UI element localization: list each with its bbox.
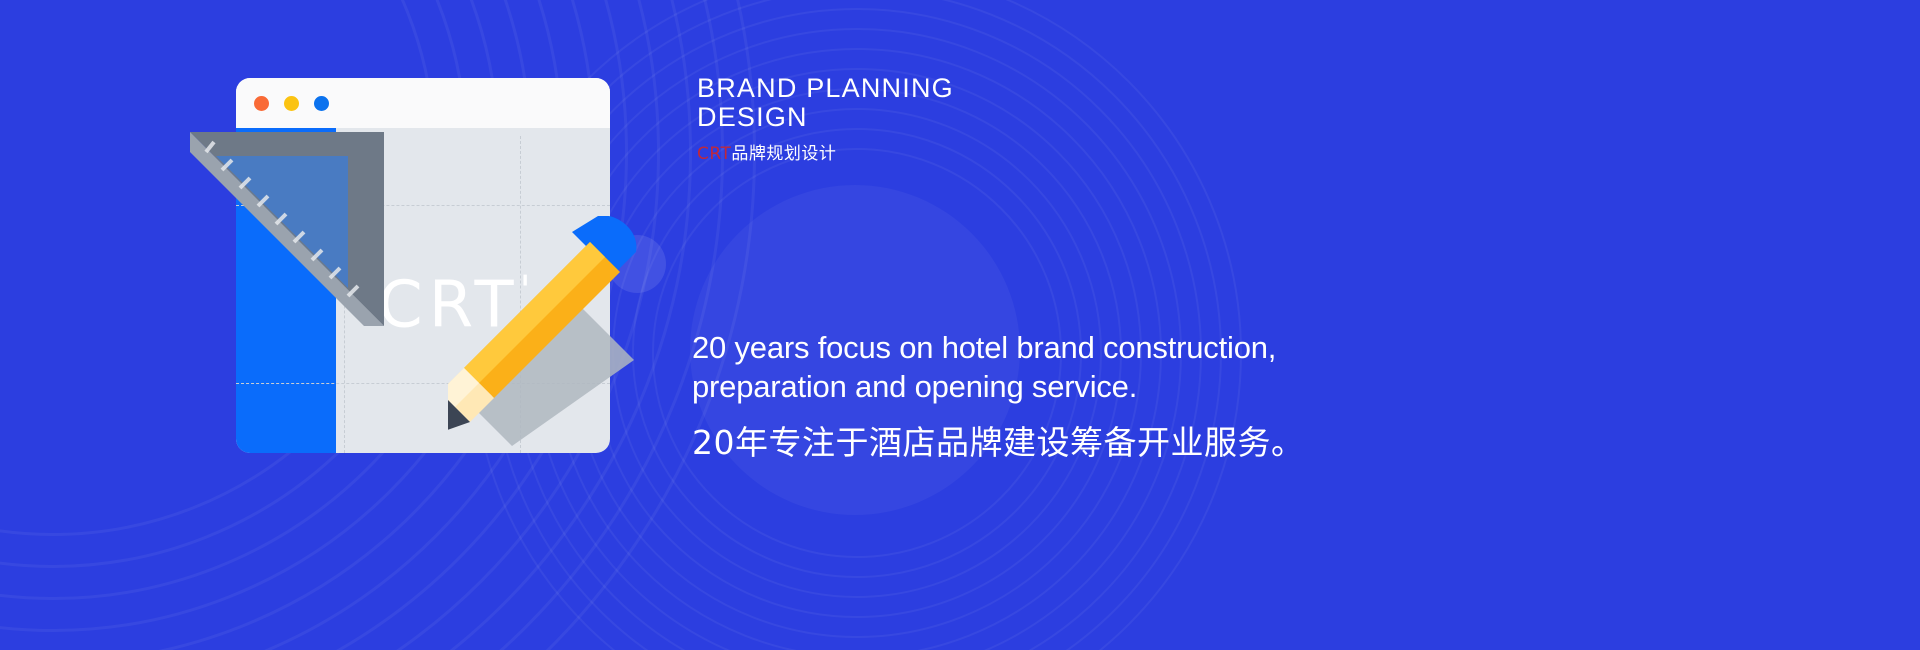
headline-chinese-accent: CRT — [697, 144, 731, 164]
brand-illustration: CRT' — [230, 78, 610, 453]
tagline-en-line-2: preparation and opening service. — [692, 367, 1452, 406]
tagline-en-line-1: 20 years focus on hotel brand constructi… — [692, 328, 1452, 367]
brand-banner: CRT' — [0, 0, 1920, 650]
headline-block: BRAND PLANNING DESIGN CRT品牌规划设计 — [697, 74, 1397, 164]
maximize-dot-icon[interactable] — [314, 96, 329, 111]
tagline-cn: 20年专注于酒店品牌建设筹备开业服务。 — [692, 422, 1452, 464]
headline-line-2: DESIGN — [697, 103, 1397, 132]
tagline-block: 20 years focus on hotel brand constructi… — [692, 328, 1452, 464]
minimize-dot-icon[interactable] — [284, 96, 299, 111]
window-titlebar — [236, 78, 610, 128]
headline-line-1: BRAND PLANNING — [697, 74, 1397, 103]
triangle-ruler-icon — [188, 130, 386, 328]
headline-chinese: CRT品牌规划设计 — [697, 139, 1397, 164]
pencil-icon — [448, 216, 643, 446]
headline-chinese-rest: 品牌规划设计 — [731, 144, 836, 164]
close-dot-icon[interactable] — [254, 96, 269, 111]
